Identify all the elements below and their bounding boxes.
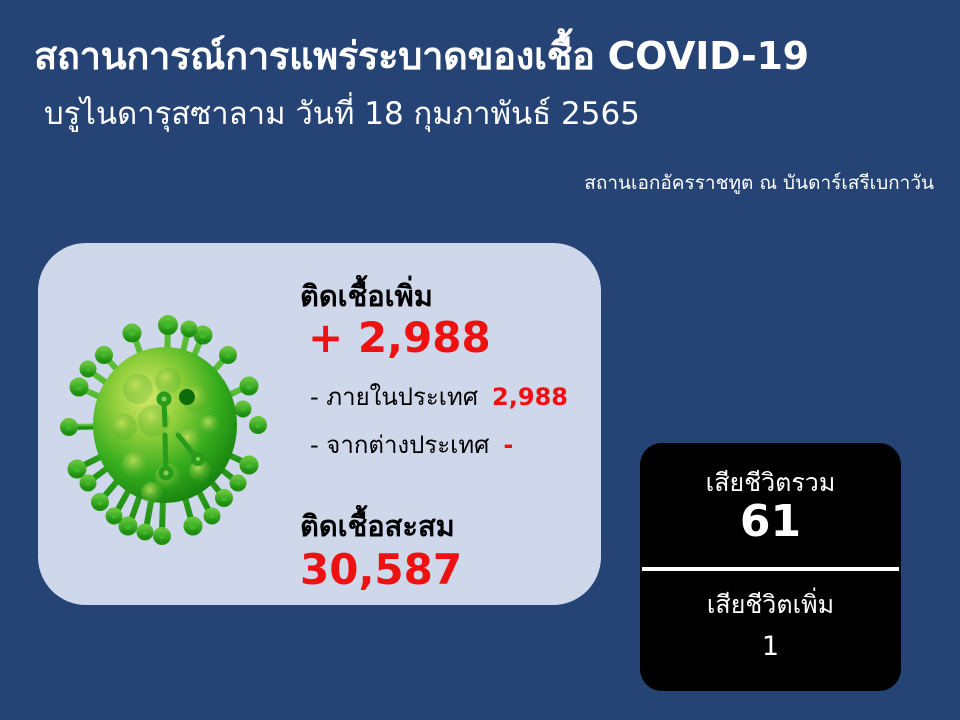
cases-card: ติดเชื้อเพิ่ม + 2,988 - ภายในประเทศ2,988… [38,243,601,605]
new-cases-value: + 2,988 [308,313,491,362]
cases-text-column: ติดเชื้อเพิ่ม + 2,988 - ภายในประเทศ2,988… [266,265,596,585]
imported-cases-row: - จากต่างประเทศ- [310,425,513,464]
header: สถานการณ์การแพร่ระบาดของเชื้อ COVID-19 บ… [0,0,960,225]
total-cases-value: 30,587 [300,545,462,594]
page-subtitle: บรูไนดารุสซาลาม วันที่ 18 กุมภาพันธ์ 256… [44,97,640,133]
imported-cases-label: - จากต่างประเทศ [310,431,489,459]
deaths-box: เสียชีวิตรวม 61 เสียชีวิตเพิ่ม 1 [640,443,901,691]
total-deaths-value: 61 [640,499,901,545]
total-cases-label: ติดเชื้อสะสม [300,503,455,549]
new-deaths-section: เสียชีวิตเพิ่ม 1 [640,571,901,691]
infographic-slide: สถานการณ์การแพร่ระบาดของเชื้อ COVID-19 บ… [0,0,960,720]
new-deaths-value: 1 [640,633,901,661]
domestic-cases-value: 2,988 [492,383,568,411]
domestic-cases-label: - ภายในประเทศ [310,383,478,411]
new-deaths-label: เสียชีวิตเพิ่ม [640,591,901,619]
coronavirus-icon [50,285,280,555]
total-deaths-section: เสียชีวิตรวม 61 [640,443,901,568]
total-deaths-label: เสียชีวิตรวม [640,469,901,497]
domestic-cases-row: - ภายในประเทศ2,988 [310,377,568,416]
page-title: สถานการณ์การแพร่ระบาดของเชื้อ COVID-19 [34,36,809,78]
embassy-attribution: สถานเอกอัครราชทูต ณ บันดาร์เสรีเบกาวัน [584,168,934,198]
imported-cases-value: - [503,431,513,459]
